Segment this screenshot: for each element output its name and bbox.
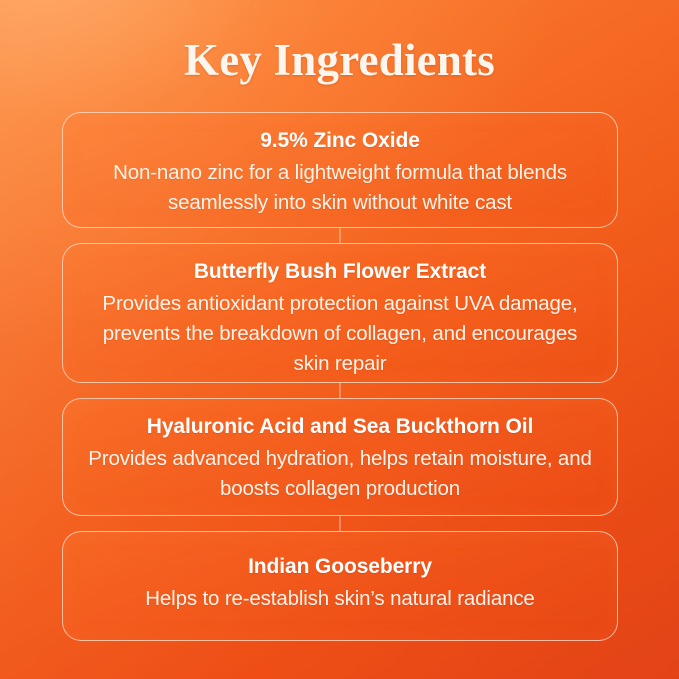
card-connector-2 xyxy=(62,383,618,398)
ingredient-card-title: Butterfly Bush Flower Extract xyxy=(83,257,597,287)
card-connector-1 xyxy=(62,228,618,243)
page-title: Key Ingredients xyxy=(0,33,679,87)
ingredient-card-list: 9.5% Zinc Oxide Non-nano zinc for a ligh… xyxy=(62,112,618,641)
key-ingredients-poster: Key Ingredients 9.5% Zinc Oxide Non-nano… xyxy=(0,0,679,679)
ingredient-card-title: Hyaluronic Acid and Sea Buckthorn Oil xyxy=(83,412,597,442)
ingredient-card-zinc-oxide: 9.5% Zinc Oxide Non-nano zinc for a ligh… xyxy=(62,112,618,228)
ingredient-card-butterfly-bush-wrap: Butterfly Bush Flower Extract Provides a… xyxy=(62,243,618,383)
connector-line-icon xyxy=(340,383,341,398)
ingredient-card-indian-gooseberry: Indian Gooseberry Helps to re-establish … xyxy=(62,531,618,641)
connector-line-icon xyxy=(340,516,341,531)
ingredient-card-body: Provides antioxidant protection against … xyxy=(83,289,597,379)
ingredient-card-zinc-oxide-wrap: 9.5% Zinc Oxide Non-nano zinc for a ligh… xyxy=(62,112,618,228)
card-connector-3 xyxy=(62,516,618,531)
ingredient-card-title: Indian Gooseberry xyxy=(83,552,597,582)
ingredient-card-hyaluronic-acid: Hyaluronic Acid and Sea Buckthorn Oil Pr… xyxy=(62,398,618,516)
ingredient-card-body: Provides advanced hydration, helps retai… xyxy=(83,444,597,504)
ingredient-card-hyaluronic-acid-wrap: Hyaluronic Acid and Sea Buckthorn Oil Pr… xyxy=(62,398,618,516)
ingredient-card-body: Non-nano zinc for a lightweight formula … xyxy=(83,158,597,218)
ingredient-card-body: Helps to re-establish skin’s natural rad… xyxy=(83,584,597,614)
ingredient-card-butterfly-bush: Butterfly Bush Flower Extract Provides a… xyxy=(62,243,618,383)
ingredient-card-indian-gooseberry-wrap: Indian Gooseberry Helps to re-establish … xyxy=(62,531,618,641)
connector-line-icon xyxy=(340,228,341,243)
ingredient-card-title: 9.5% Zinc Oxide xyxy=(83,126,597,156)
